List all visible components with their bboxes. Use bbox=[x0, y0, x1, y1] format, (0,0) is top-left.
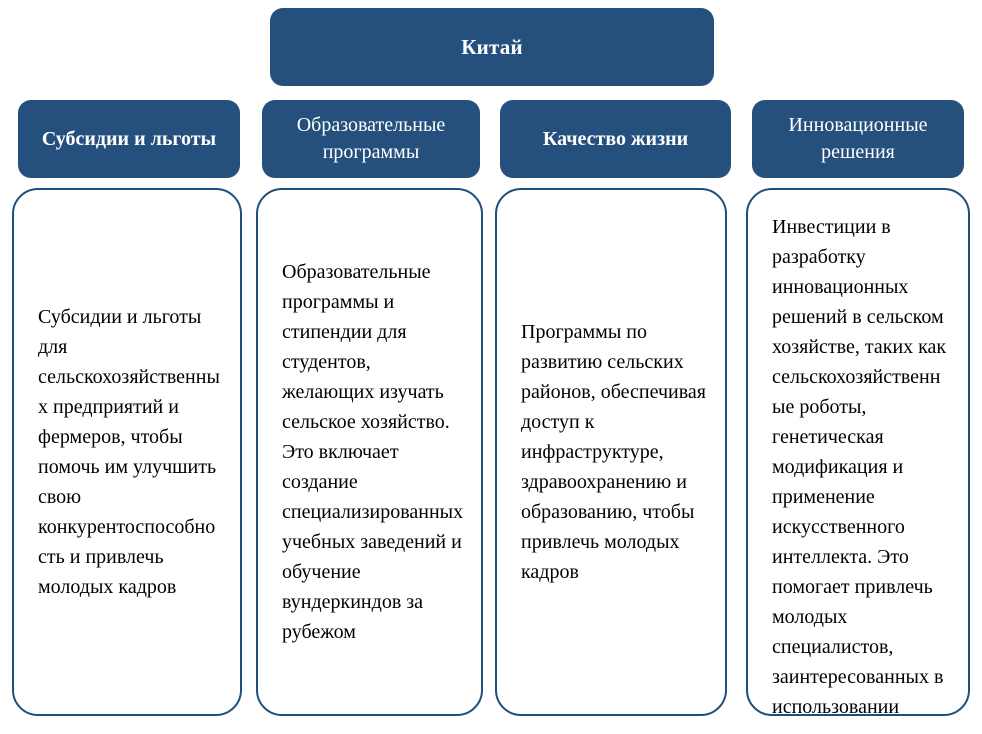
column-content-card-education: Образовательные программы и стипендии дл… bbox=[256, 188, 483, 716]
column-content-text-3: Программы по развитию сельских районов, … bbox=[497, 317, 725, 587]
column-content-text-1: Субсидии и льготы для сельскохозяйственн… bbox=[14, 302, 240, 602]
column-header-label-3: Качество жизни bbox=[543, 126, 688, 153]
column-content-card-subsidies: Субсидии и льготы для сельскохозяйственн… bbox=[12, 188, 242, 716]
column-header-quality-of-life: Качество жизни bbox=[500, 100, 731, 178]
diagram-title-box: Китай bbox=[270, 8, 714, 86]
column-content-card-quality-of-life: Программы по развитию сельских районов, … bbox=[495, 188, 727, 716]
column-header-label-2: Образовательные программы bbox=[272, 112, 470, 166]
diagram-title-text: Китай bbox=[461, 34, 523, 60]
diagram-canvas: Китай Субсидии и льготы Субсидии и льгот… bbox=[0, 0, 982, 734]
column-header-label-4: Инновационные решения bbox=[762, 112, 954, 166]
column-header-education: Образовательные программы bbox=[262, 100, 480, 178]
column-header-innovation: Инновационные решения bbox=[752, 100, 964, 178]
column-content-text-2: Образовательные программы и стипендии дл… bbox=[258, 257, 481, 647]
column-content-text-4: Инвестиции в разработку инновационных ре… bbox=[748, 190, 968, 716]
column-header-subsidies: Субсидии и льготы bbox=[18, 100, 240, 178]
column-content-card-innovation: Инвестиции в разработку инновационных ре… bbox=[746, 188, 970, 716]
column-header-label-1: Субсидии и льготы bbox=[42, 126, 216, 153]
